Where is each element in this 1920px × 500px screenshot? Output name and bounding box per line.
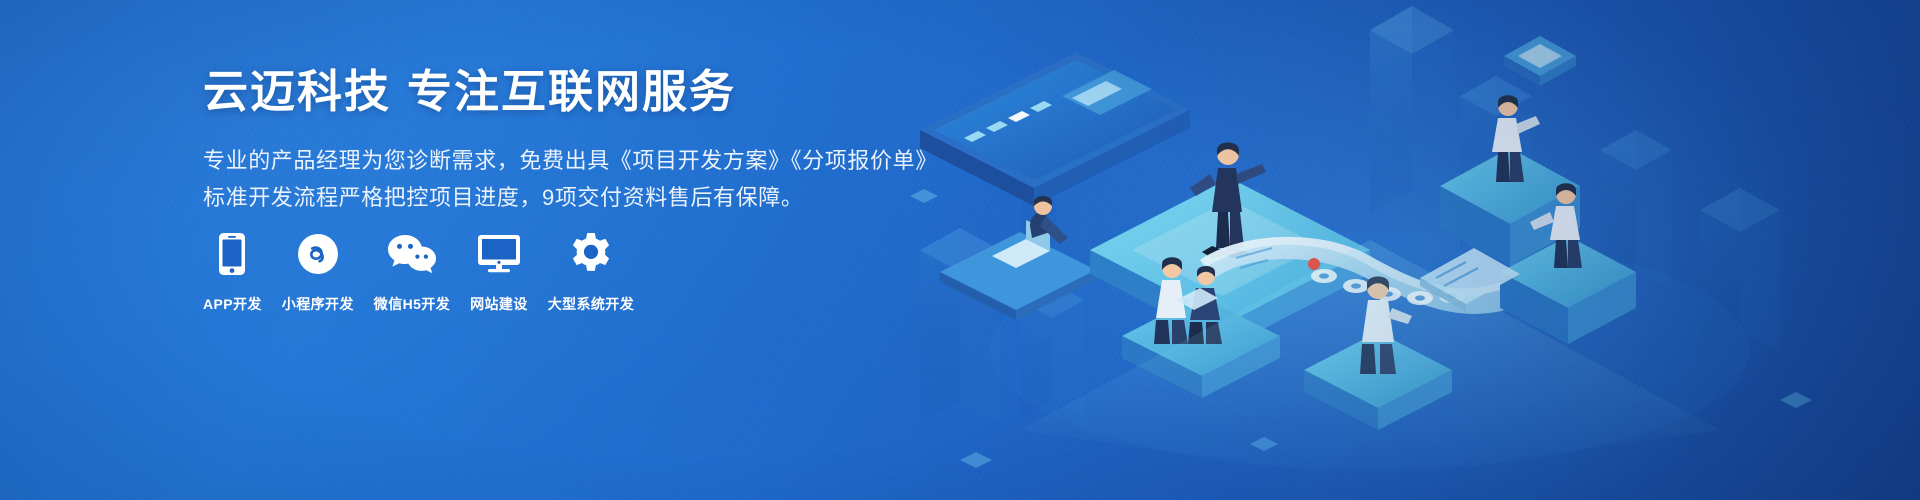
service-label: APP开发 <box>203 294 262 314</box>
banner-content: 云迈科技专注互联网服务 专业的产品经理为您诊断需求，免费出具《项目开发方案》《分… <box>203 66 963 216</box>
hero-banner: 云迈科技专注互联网服务 专业的产品经理为您诊断需求，免费出具《项目开发方案》《分… <box>0 0 1920 500</box>
subtitle-line-1: 专业的产品经理为您诊断需求，免费出具《项目开发方案》《分项报价单》 <box>203 142 963 179</box>
service-list: APP开发 小程序开发 <box>203 228 634 314</box>
page-title: 云迈科技专注互联网服务 <box>203 66 963 118</box>
monitor-icon <box>471 228 527 280</box>
title-brand: 云迈科技 <box>203 66 391 117</box>
service-item-large-system[interactable]: 大型系统开发 <box>548 228 634 314</box>
banner-subtitle: 专业的产品经理为您诊断需求，免费出具《项目开发方案》《分项报价单》 标准开发流程… <box>203 142 963 216</box>
service-item-wechat[interactable]: 微信H5开发 <box>374 228 450 314</box>
mini-program-icon <box>290 228 346 280</box>
mobile-phone-icon <box>204 228 260 280</box>
service-label: 大型系统开发 <box>548 294 634 314</box>
gear-icon <box>563 228 619 280</box>
service-item-website[interactable]: 网站建设 <box>470 228 528 314</box>
service-label: 微信H5开发 <box>374 294 450 314</box>
isometric-team-dashboard-illustration <box>900 0 1920 500</box>
subtitle-line-2: 标准开发流程严格把控项目进度，9项交付资料售后有保障。 <box>203 179 963 216</box>
service-label: 网站建设 <box>470 294 528 314</box>
service-item-mini-program[interactable]: 小程序开发 <box>282 228 354 314</box>
wechat-icon <box>384 228 440 280</box>
title-tagline: 专注互联网服务 <box>407 66 736 117</box>
service-item-app[interactable]: APP开发 <box>203 228 262 314</box>
service-label: 小程序开发 <box>282 294 354 314</box>
